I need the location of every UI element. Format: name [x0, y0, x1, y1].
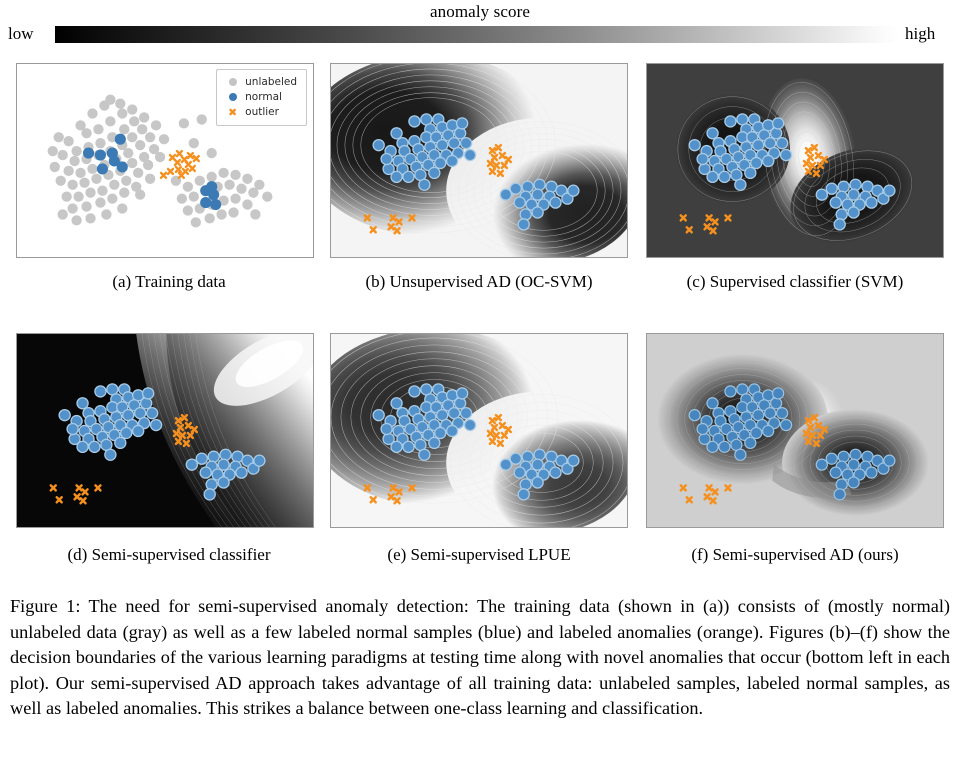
panel-e-plot — [331, 334, 627, 527]
legend-label-normal: normal — [245, 90, 282, 105]
colorbar: anomaly score low high — [0, 0, 960, 50]
panel-d-plot — [17, 334, 313, 527]
caption-panel-c: (c) Supervised classifier (SVM) — [642, 272, 948, 292]
colorbar-gradient — [55, 26, 900, 43]
panel-d-semisupervised-classifier — [16, 333, 314, 528]
unlabeled-marker-icon — [224, 75, 241, 90]
panel-e-semisupervised-lpue — [330, 333, 628, 528]
legend-item-normal: normal — [224, 90, 297, 105]
colorbar-low-label: low — [8, 24, 34, 44]
colorbar-high-label: high — [905, 24, 935, 44]
panel-a-training-data: unlabeled normal ✖ outlier — [16, 63, 314, 258]
figure-caption: Figure 1: The need for semi-supervised a… — [10, 594, 950, 722]
caption-panel-e: (e) Semi-supervised LPUE — [326, 545, 632, 565]
panel-c-supervised-classifier — [646, 63, 944, 258]
legend-label-unlabeled: unlabeled — [245, 75, 297, 90]
legend-item-unlabeled: unlabeled — [224, 75, 297, 90]
caption-panel-d: (d) Semi-supervised classifier — [16, 545, 322, 565]
legend: unlabeled normal ✖ outlier — [216, 69, 307, 126]
panel-b-unsupervised-ad — [330, 63, 628, 258]
panel-b-plot — [331, 64, 627, 257]
colorbar-title: anomaly score — [0, 2, 960, 22]
outlier-marker-icon: ✖ — [224, 107, 241, 118]
normal-marker-icon — [224, 90, 241, 105]
caption-panel-a: (a) Training data — [16, 272, 322, 292]
legend-item-outlier: ✖ outlier — [224, 105, 297, 120]
legend-label-outlier: outlier — [245, 105, 279, 120]
panel-f-plot — [647, 334, 943, 527]
caption-panel-f: (f) Semi-supervised AD (ours) — [642, 545, 948, 565]
figure-root: anomaly score low high — [0, 0, 960, 760]
caption-panel-b: (b) Unsupervised AD (OC-SVM) — [326, 272, 632, 292]
panel-c-plot — [647, 64, 943, 257]
panel-f-semisupervised-ad-ours — [646, 333, 944, 528]
